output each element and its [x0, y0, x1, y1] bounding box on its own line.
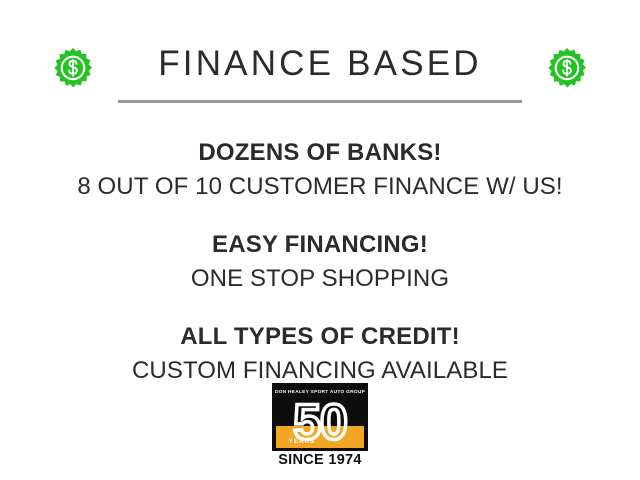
gear-dollar-icon-left	[50, 47, 96, 93]
message-list: DOZENS OF BANKS! 8 OUT OF 10 CUSTOMER FI…	[0, 136, 640, 388]
gear-dollar-icon-right	[544, 47, 590, 93]
title-wrap: FINANCE BASED	[118, 46, 522, 103]
logo-years-label-text: YEARS	[289, 439, 316, 445]
message-subline: 8 OUT OF 10 CUSTOMER FINANCE W/ US!	[0, 170, 640, 204]
logo-area: DON HEALEY SPORT AUTO GROUP 50 YEARS SIN…	[0, 383, 640, 469]
message-headline: ALL TYPES OF CREDIT!	[0, 320, 640, 354]
message-block-easy-financing: EASY FINANCING! ONE STOP SHOPPING	[0, 228, 640, 296]
slide-header: FINANCE BASED	[0, 0, 640, 118]
title-divider	[118, 100, 522, 103]
message-block-banks: DOZENS OF BANKS! 8 OUT OF 10 CUSTOMER FI…	[0, 136, 640, 204]
page-title: FINANCE BASED	[158, 46, 482, 83]
finance-based-slide: FINANCE BASED DOZENS OF BANKS! 8 OUT OF …	[0, 0, 640, 480]
anniversary-badge-icon: DON HEALEY SPORT AUTO GROUP 50 YEARS	[272, 383, 368, 451]
message-headline: DOZENS OF BANKS!	[0, 136, 640, 170]
message-subline: ONE STOP SHOPPING	[0, 262, 640, 296]
message-headline: EASY FINANCING!	[0, 228, 640, 262]
message-block-credit: ALL TYPES OF CREDIT! CUSTOM FINANCING AV…	[0, 320, 640, 388]
dealer-anniversary-logo: DON HEALEY SPORT AUTO GROUP 50 YEARS SIN…	[272, 383, 368, 469]
logo-since-text: SINCE 1974	[278, 453, 362, 469]
